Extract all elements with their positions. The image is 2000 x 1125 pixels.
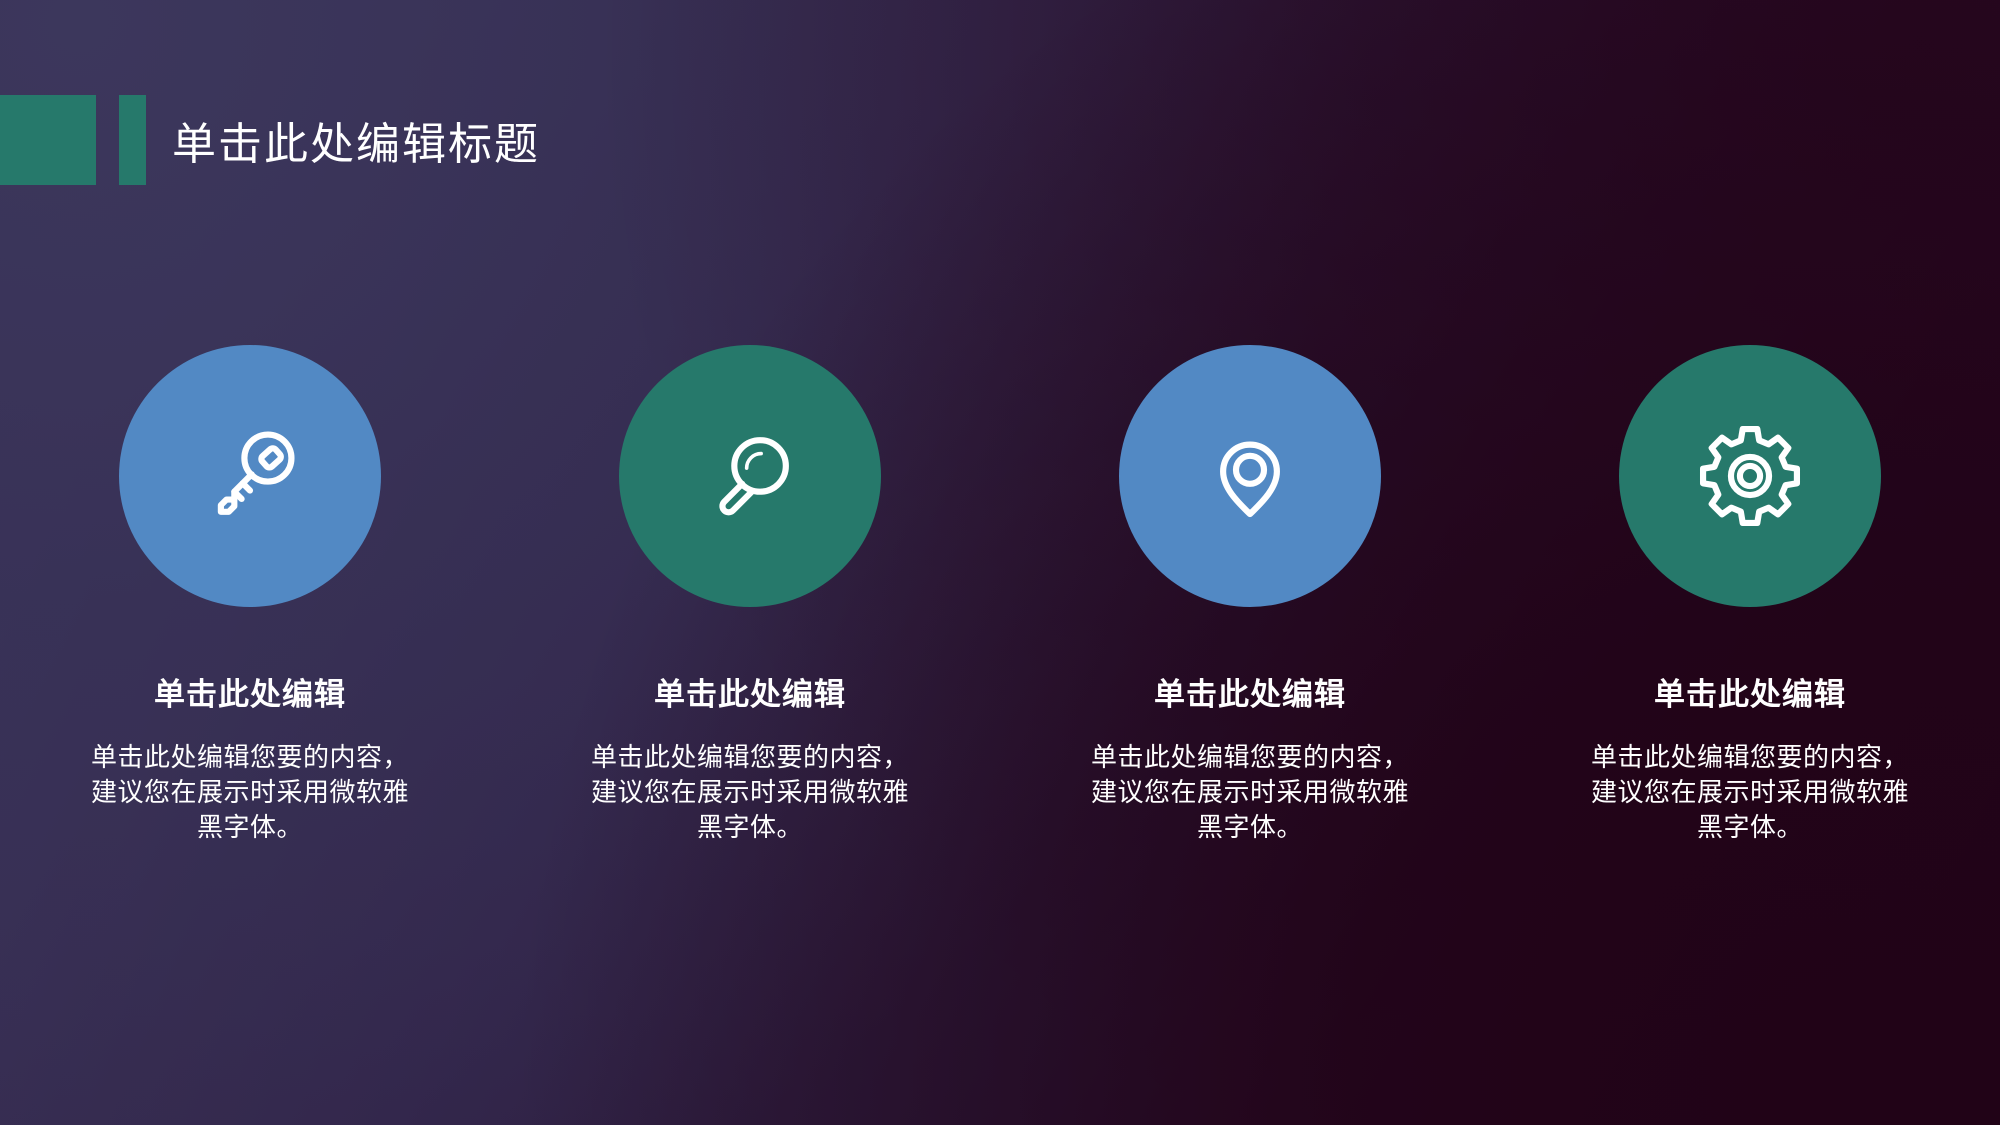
feature-heading-2: 单击此处编辑 <box>654 669 846 714</box>
feature-columns: 单击此处编辑 单击此处编辑您要的内容，建议您在展示时采用微软雅黑字体。 单击此处… <box>0 345 2000 844</box>
icon-circle-1[interactable] <box>119 345 381 607</box>
feature-heading-3: 单击此处编辑 <box>1154 669 1346 714</box>
icon-circle-4[interactable] <box>1619 345 1881 607</box>
feature-body-2: 单击此处编辑您要的内容，建议您在展示时采用微软雅黑字体。 <box>585 740 915 844</box>
feature-column-2: 单击此处编辑 单击此处编辑您要的内容，建议您在展示时采用微软雅黑字体。 <box>500 345 1000 844</box>
feature-column-1: 单击此处编辑 单击此处编辑您要的内容，建议您在展示时采用微软雅黑字体。 <box>0 345 500 844</box>
location-pin-icon <box>1194 420 1306 532</box>
icon-circle-2[interactable] <box>619 345 881 607</box>
feature-body-4: 单击此处编辑您要的内容，建议您在展示时采用微软雅黑字体。 <box>1585 740 1915 844</box>
title-accent-bar <box>119 95 146 185</box>
key-icon <box>194 420 306 532</box>
title-row: 单击此处编辑标题 <box>0 95 2000 185</box>
feature-body-3: 单击此处编辑您要的内容，建议您在展示时采用微软雅黑字体。 <box>1085 740 1415 844</box>
feature-body-1: 单击此处编辑您要的内容，建议您在展示时采用微软雅黑字体。 <box>85 740 415 844</box>
feature-column-3: 单击此处编辑 单击此处编辑您要的内容，建议您在展示时采用微软雅黑字体。 <box>1000 345 1500 844</box>
magnifier-icon <box>694 420 806 532</box>
feature-heading-4: 单击此处编辑 <box>1654 669 1846 714</box>
gear-icon <box>1694 420 1806 532</box>
feature-heading-1: 单击此处编辑 <box>154 669 346 714</box>
title-accent-block <box>0 95 96 185</box>
page-title[interactable]: 单击此处编辑标题 <box>172 108 540 172</box>
feature-column-4: 单击此处编辑 单击此处编辑您要的内容，建议您在展示时采用微软雅黑字体。 <box>1500 345 2000 844</box>
slide-canvas: 单击此处编辑标题 单击此处编辑 单击此处编辑您要的内容，建议您在展示时采用微软雅… <box>0 0 2000 1125</box>
icon-circle-3[interactable] <box>1119 345 1381 607</box>
